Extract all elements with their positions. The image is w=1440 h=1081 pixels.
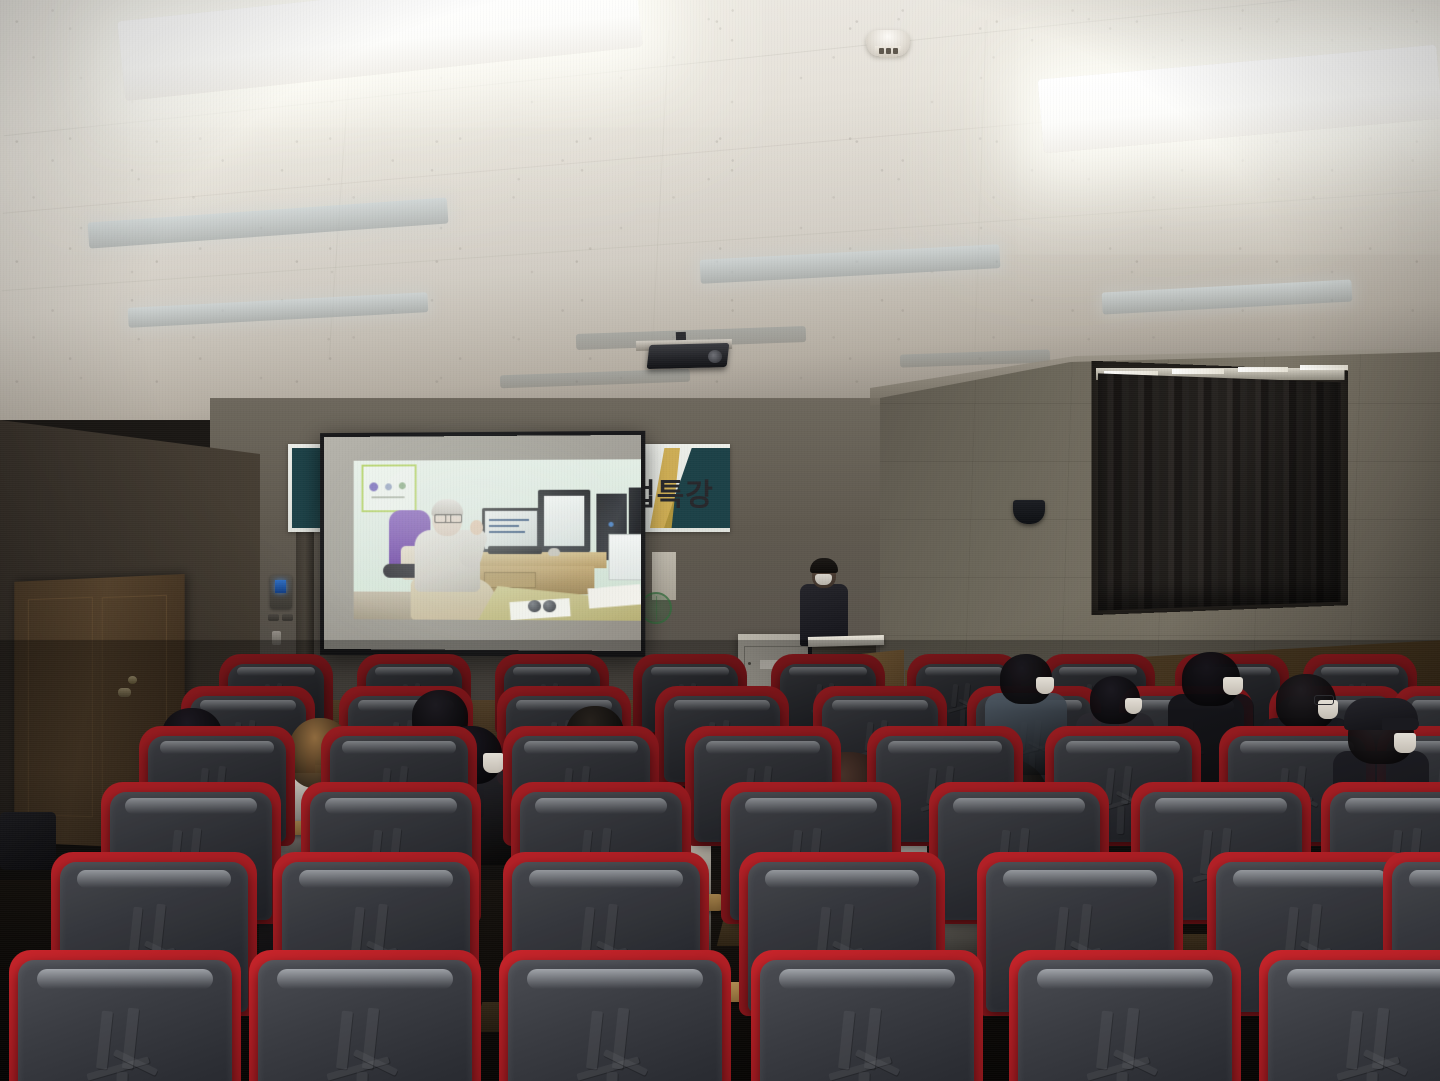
seat-highlight xyxy=(1003,870,1157,888)
monitor-content-line xyxy=(489,531,525,533)
seat-highlight xyxy=(1240,741,1353,754)
seat-highlight xyxy=(1233,870,1387,888)
seat-highlight xyxy=(513,667,592,675)
smoke-detector-vent xyxy=(893,48,898,54)
poster-dot xyxy=(369,482,378,491)
monitor-content-line xyxy=(489,519,529,521)
lectern-top xyxy=(808,635,884,647)
wall-switch-plate[interactable] xyxy=(282,614,293,621)
auditorium-seat[interactable] xyxy=(760,960,974,1081)
auditorium-photo: 제 2 업특강 xyxy=(0,0,1440,1081)
seat-shell-rib xyxy=(356,1072,368,1081)
door-handle[interactable] xyxy=(118,688,131,697)
curtain-rail-gleam xyxy=(1238,367,1288,372)
seat-back-shell xyxy=(18,960,232,1081)
video-second-tower xyxy=(629,488,641,534)
seat-shell-rib xyxy=(96,1011,113,1070)
video-subject-hand xyxy=(470,520,483,535)
auditorium-seat[interactable] xyxy=(1018,960,1232,1081)
seat-highlight xyxy=(37,969,212,989)
curtain-rail-gleam xyxy=(1172,369,1224,374)
seat-back-shell xyxy=(258,960,472,1081)
video-papers-2 xyxy=(588,584,641,608)
seat-highlight xyxy=(789,667,868,675)
video-monitor-left-screen xyxy=(485,511,537,549)
seat-highlight xyxy=(125,798,258,813)
seat-highlight xyxy=(765,870,919,888)
seat-shell-rib xyxy=(116,1072,128,1081)
curtain-rail-gleam xyxy=(1300,365,1348,370)
person-face-mask xyxy=(1125,698,1142,714)
auditorium-seat[interactable] xyxy=(18,960,232,1081)
seat-highlight xyxy=(925,667,1004,675)
person-cap-brim xyxy=(1382,718,1419,730)
seat-shell-rib xyxy=(858,1072,870,1081)
person-glasses-icon xyxy=(1314,695,1334,705)
seat-shell-rib xyxy=(1117,806,1125,834)
seat-highlight xyxy=(535,798,668,813)
bag-on-floor[interactable] xyxy=(0,812,56,870)
seat-highlight xyxy=(674,700,769,710)
seat-highlight xyxy=(706,741,819,754)
auditorium-seat[interactable] xyxy=(508,960,722,1081)
person-face-mask xyxy=(1394,733,1416,753)
projector-lens-icon xyxy=(708,350,722,363)
speaker-icon xyxy=(1013,500,1045,524)
video-sunglasses-icon xyxy=(528,600,556,612)
projected-video xyxy=(354,459,641,620)
seat-back-shell xyxy=(1018,960,1232,1081)
curtain-shading xyxy=(1098,373,1341,610)
smoke-detector-vent xyxy=(886,48,891,54)
seat-highlight xyxy=(1059,667,1138,675)
seat-highlight xyxy=(342,741,455,754)
seat-shell-rib xyxy=(336,1011,353,1070)
seat-back-shell xyxy=(760,960,974,1081)
seat-highlight xyxy=(524,741,637,754)
auditorium-seat[interactable] xyxy=(1268,960,1440,1081)
poster-line xyxy=(371,496,404,498)
seat-highlight xyxy=(299,870,453,888)
person-face-mask xyxy=(483,753,504,773)
seat-shell-rib xyxy=(606,1072,618,1081)
seat-highlight xyxy=(277,969,452,989)
seat-back-shell xyxy=(1268,960,1440,1081)
video-mouse xyxy=(548,548,560,556)
video-tower-power-led xyxy=(609,522,614,527)
seat-shell-rib xyxy=(951,684,958,707)
seat-highlight xyxy=(237,667,316,675)
seat-highlight xyxy=(77,870,231,888)
seat-highlight xyxy=(1412,700,1440,710)
seat-highlight xyxy=(1321,667,1400,675)
seat-highlight xyxy=(779,969,954,989)
seat-highlight xyxy=(1409,870,1440,888)
seat-highlight xyxy=(1066,741,1179,754)
seat-highlight xyxy=(651,667,730,675)
video-keyboard xyxy=(488,546,542,554)
seat-highlight xyxy=(832,700,927,710)
presenter-face-mask xyxy=(815,574,832,585)
video-desk-drawer xyxy=(484,572,536,588)
control-panel-display xyxy=(275,580,286,593)
poster-dot xyxy=(385,483,392,490)
person-face-mask xyxy=(1223,677,1243,695)
seat-shell-rib xyxy=(1366,1072,1378,1081)
seat-highlight xyxy=(325,798,458,813)
video-wall-poster xyxy=(361,464,416,512)
cabinet-screw xyxy=(748,662,751,665)
person-face-mask xyxy=(1036,677,1054,694)
seat-highlight xyxy=(888,741,1001,754)
seat-highlight xyxy=(375,667,454,675)
seat-highlight xyxy=(1287,969,1440,989)
auditorium-seat[interactable] xyxy=(258,960,472,1081)
presenter-hair xyxy=(810,558,838,573)
seat-highlight xyxy=(1037,969,1212,989)
door-panel-left xyxy=(28,597,93,817)
seat-back-shell xyxy=(508,960,722,1081)
wall-outlet-plate xyxy=(272,631,281,645)
smoke-detector-vent xyxy=(879,48,884,54)
seat-shell-rib xyxy=(1116,1072,1128,1081)
video-monitor-right-screen xyxy=(544,496,584,546)
seat-shell-rib xyxy=(960,709,965,727)
seat-highlight xyxy=(953,798,1086,813)
seat-highlight xyxy=(745,798,878,813)
seat-highlight xyxy=(200,700,295,710)
seat-highlight xyxy=(529,870,683,888)
monitor-content-line xyxy=(489,525,519,527)
seat-highlight xyxy=(1155,798,1288,813)
seat-highlight xyxy=(1345,798,1440,813)
wall-switch-plate[interactable] xyxy=(268,614,279,621)
seat-shell-rib xyxy=(586,1011,603,1070)
seat-shell-rib xyxy=(1346,1011,1363,1070)
seat-shell-rib xyxy=(838,1011,855,1070)
poster-dot xyxy=(399,482,406,489)
video-whiteboard xyxy=(609,534,641,580)
seat-highlight xyxy=(160,741,273,754)
door-lock-icon[interactable] xyxy=(128,676,137,684)
video-subject-glasses-icon xyxy=(434,514,462,523)
seat-highlight xyxy=(527,969,702,989)
seat-shell-rib xyxy=(1096,1011,1113,1070)
